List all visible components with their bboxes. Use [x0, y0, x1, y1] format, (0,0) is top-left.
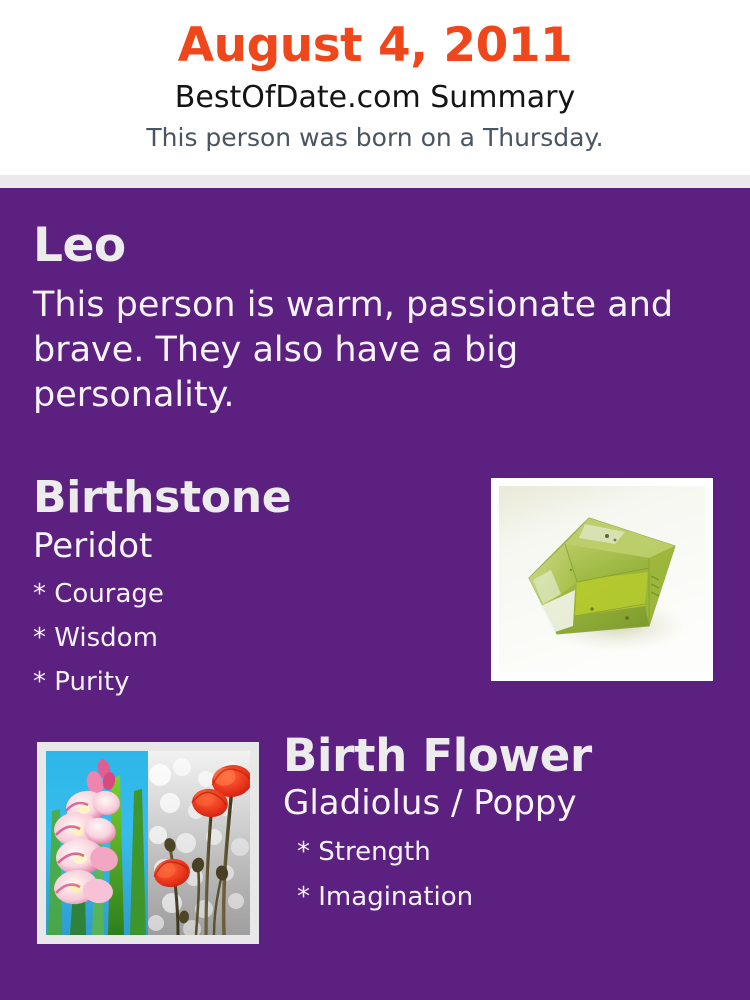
peridot-gemstone-photo	[499, 486, 705, 673]
summary-panel: Leo This person is warm, passionate and …	[0, 188, 750, 1000]
zodiac-section: Leo This person is warm, passionate and …	[33, 222, 693, 418]
list-item: * Courage	[33, 563, 463, 607]
birthstone-name: Peridot	[33, 520, 463, 563]
birthflower-heading: Birth Flower	[283, 733, 713, 778]
site-name: BestOfDate.com Summary	[0, 69, 750, 113]
infographic-card: August 4, 2011 BestOfDate.com Summary Th…	[0, 0, 750, 1000]
page-title-date: August 4, 2011	[0, 0, 750, 69]
header: August 4, 2011 BestOfDate.com Summary Th…	[0, 0, 750, 175]
birthstone-image-frame	[491, 478, 713, 681]
birth-day-note: This person was born on a Thursday.	[0, 113, 750, 150]
birthflower-image-frame	[37, 742, 259, 944]
list-item: * Strength	[283, 820, 713, 865]
birthstone-heading: Birthstone	[33, 476, 463, 520]
zodiac-sign-name: Leo	[33, 222, 693, 269]
birthflower-section: Birth Flower Gladiolus / Poppy * Strengt…	[283, 733, 713, 910]
birthstone-section: Birthstone Peridot * Courage * Wisdom * …	[33, 476, 463, 695]
zodiac-description: This person is warm, passionate and brav…	[33, 269, 678, 418]
gladiolus-photo-half	[46, 751, 148, 935]
gladiolus-illustration	[46, 751, 148, 935]
poppy-photo-half	[148, 751, 250, 935]
birthstone-trait-list: * Courage * Wisdom * Purity	[33, 563, 463, 695]
list-item: * Imagination	[283, 865, 713, 910]
header-divider	[0, 175, 750, 188]
gem-illustration	[499, 486, 705, 673]
poppy-illustration	[148, 751, 250, 935]
list-item: * Wisdom	[33, 607, 463, 651]
birthflower-trait-list: * Strength * Imagination	[283, 820, 713, 910]
list-item: * Purity	[33, 651, 463, 695]
birthflower-name: Gladiolus / Poppy	[283, 778, 713, 820]
gladiolus-poppy-photo	[46, 751, 250, 935]
